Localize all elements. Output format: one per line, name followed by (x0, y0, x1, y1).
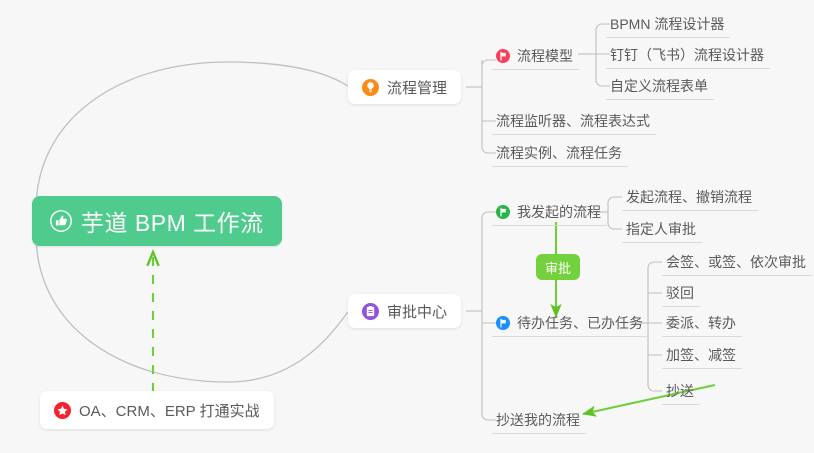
node-assignee-approval[interactable]: 指定人审批 (622, 215, 702, 243)
node-label-dingtalk-feishu-designer: 钉钉（飞书）流程设计器 (610, 45, 764, 65)
branch-label-process-management: 流程管理 (387, 77, 447, 98)
node-delegate-transfer[interactable]: 委派、转办 (662, 309, 742, 337)
node-label-my-initiated-process: 我发起的流程 (517, 202, 601, 222)
node-label-delegate-transfer: 委派、转办 (666, 313, 736, 333)
node-label-process-instance-task: 流程实例、流程任务 (496, 143, 622, 163)
node-label-countersign: 会签、或签、依次审批 (666, 252, 806, 272)
node-reject[interactable]: 驳回 (662, 279, 700, 307)
node-label-process-listener: 流程监听器、流程表达式 (496, 111, 650, 131)
node-label-custom-process-form: 自定义流程表单 (610, 76, 708, 96)
branch-node-process-management[interactable]: 流程管理 (348, 70, 461, 104)
flag-icon (496, 205, 510, 219)
node-start-cancel-process[interactable]: 发起流程、撤销流程 (622, 183, 758, 211)
node-add-remove-sign[interactable]: 加签、减签 (662, 341, 742, 369)
node-label-assignee-approval: 指定人审批 (626, 219, 696, 239)
root-node[interactable]: 芋道 BPM 工作流 (32, 196, 282, 246)
branch-node-approval-center[interactable]: 审批中心 (348, 294, 461, 328)
flag-icon (496, 316, 510, 330)
node-dingtalk-feishu-designer[interactable]: 钉钉（飞书）流程设计器 (606, 41, 770, 69)
node-label-cc: 抄送 (666, 381, 694, 401)
node-label-cc-to-me: 抄送我的流程 (496, 410, 580, 430)
annotation-pill-approval: 审批 (536, 254, 580, 280)
node-process-instance-task[interactable]: 流程实例、流程任务 (492, 139, 628, 167)
node-countersign[interactable]: 会签、或签、依次审批 (662, 248, 812, 276)
link-root-to-process-management (36, 62, 348, 210)
node-process-model[interactable]: 流程模型 (492, 42, 579, 70)
clipboard-icon (362, 303, 379, 320)
link-mine-bracket (608, 197, 622, 229)
flag-icon (496, 49, 510, 63)
link-todo-bracket (648, 262, 662, 391)
node-cc-to-me[interactable]: 抄送我的流程 (492, 406, 586, 434)
mindmap-canvas: 芋道 BPM 工作流 流程管理 流程模型 BPMN 流程设计器 钉钉（飞书）流程 (0, 0, 814, 453)
node-label-start-cancel-process: 发起流程、撤销流程 (626, 187, 752, 207)
node-label-bpmn-designer: BPMN 流程设计器 (610, 14, 724, 34)
link-root-to-approval-center (36, 234, 348, 382)
branch-label-approval-center: 审批中心 (387, 301, 447, 322)
node-bpmn-designer[interactable]: BPMN 流程设计器 (606, 10, 730, 38)
node-my-initiated-process[interactable]: 我发起的流程 (492, 198, 607, 226)
node-custom-process-form[interactable]: 自定义流程表单 (606, 72, 714, 100)
node-cc[interactable]: 抄送 (662, 377, 700, 405)
node-label-add-remove-sign: 加签、减签 (666, 345, 736, 365)
star-icon (54, 402, 71, 419)
node-label-reject: 驳回 (666, 283, 694, 303)
node-label-process-model: 流程模型 (517, 46, 573, 66)
thumbs-up-icon (50, 210, 72, 232)
node-label-todo-done-tasks: 待办任务、已办任务 (517, 313, 643, 333)
node-process-listener[interactable]: 流程监听器、流程表达式 (492, 107, 656, 135)
root-label: 芋道 BPM 工作流 (81, 204, 264, 238)
node-todo-done-tasks[interactable]: 待办任务、已办任务 (492, 309, 649, 337)
bottom-note-label: OA、CRM、ERP 打通实战 (79, 400, 260, 421)
bottom-note-node[interactable]: OA、CRM、ERP 打通实战 (40, 391, 274, 429)
lightbulb-icon (362, 79, 379, 96)
annotation-pill-label: 审批 (545, 258, 571, 277)
